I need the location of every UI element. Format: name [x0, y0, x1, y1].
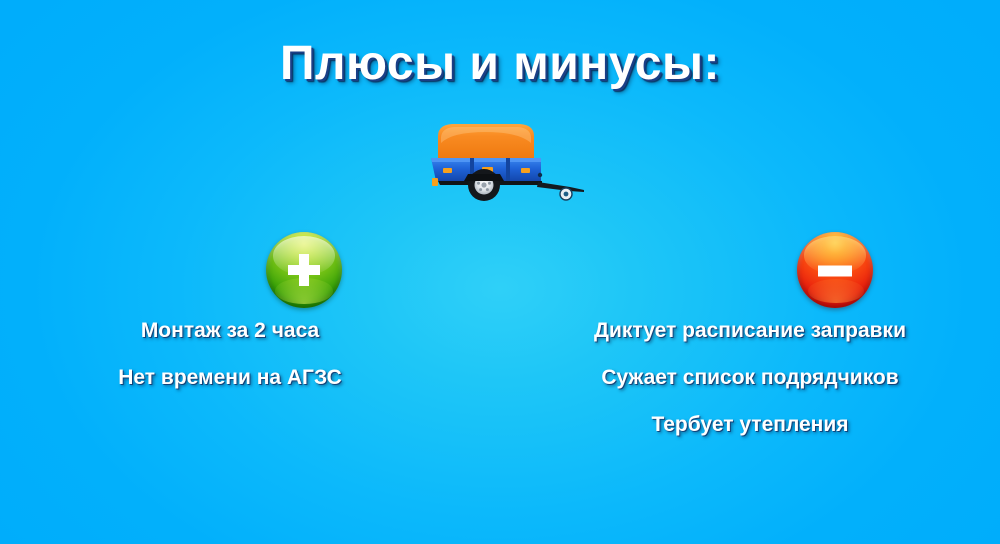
list-item: Монтаж за 2 часа: [40, 320, 420, 341]
cons-icon-wrap: [540, 232, 960, 310]
plus-circle-icon: [266, 232, 342, 308]
trailer-lug-nut: [488, 182, 491, 185]
pros-list: Монтаж за 2 часа Нет времени на АГЗС: [40, 320, 420, 388]
trailer-lug-nut: [486, 188, 489, 191]
trailer-hub-cap: [481, 182, 486, 187]
cons-column: Диктует расписание заправки Сужает списо…: [540, 232, 960, 435]
trailer-wheel-arch: [464, 174, 504, 181]
pros-column: Монтаж за 2 часа Нет времени на АГЗС: [40, 232, 420, 388]
trailer-lug-nut: [477, 182, 480, 185]
list-item: Диктует расписание заправки: [540, 320, 960, 341]
list-item: Нет времени на АГЗС: [40, 367, 420, 388]
cargo-trailer-icon: [418, 112, 588, 202]
trailer-lug-nut: [479, 188, 482, 191]
trailer-reflector: [521, 168, 530, 173]
pros-icon-wrap: [40, 232, 420, 310]
trailer-corner-light: [432, 178, 438, 186]
slide-canvas: Плюсы и минусы:: [0, 0, 1000, 544]
trailer-body-top-rail: [431, 158, 541, 162]
cargo-trailer-illustration: [418, 112, 588, 202]
trailer-panel-divider: [506, 158, 510, 181]
cons-list: Диктует расписание заправки Сужает списо…: [540, 320, 960, 435]
minus-circle-icon: [797, 232, 873, 308]
trailer-coupling-pin: [564, 192, 569, 197]
page-title: Плюсы и минусы:: [0, 36, 1000, 91]
trailer-bracket: [538, 173, 542, 177]
plus-glyph: [266, 232, 342, 308]
minus-glyph: [797, 232, 873, 308]
list-item: Тербует утепления: [540, 414, 960, 435]
trailer-reflector: [443, 168, 452, 173]
list-item: Сужает список подрядчиков: [540, 367, 960, 388]
